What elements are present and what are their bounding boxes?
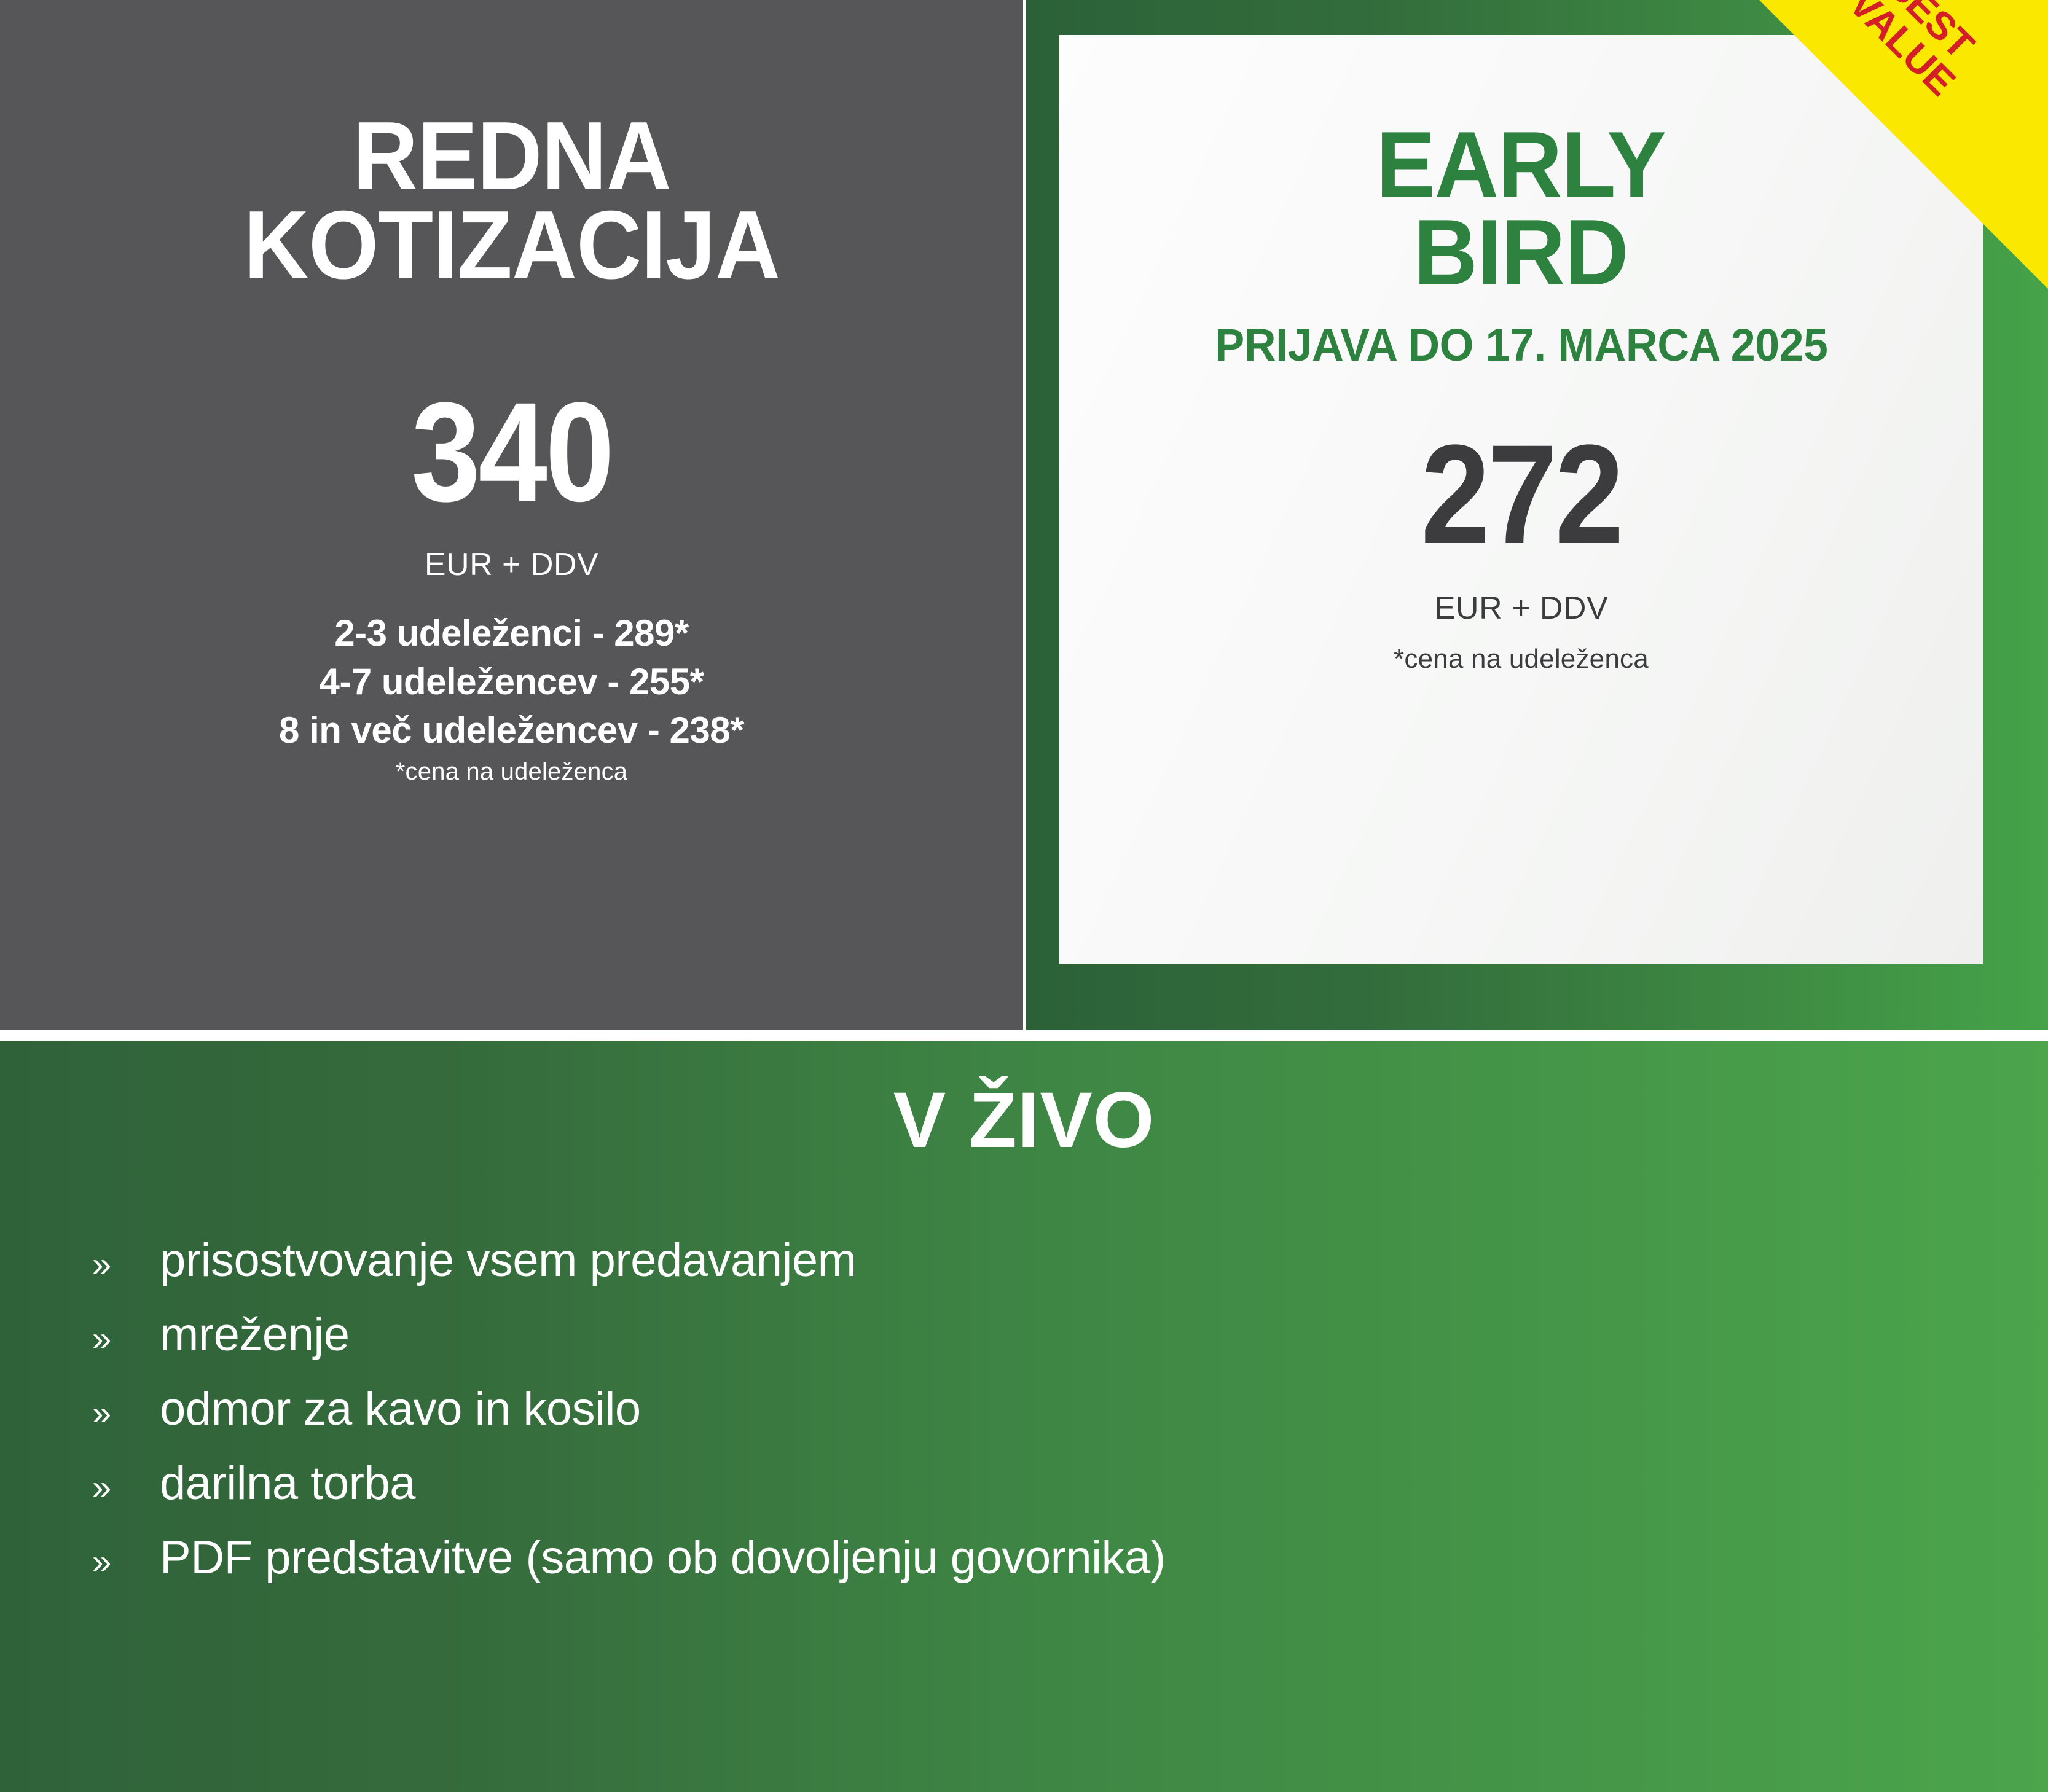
list-item-label: PDF predstavitve (samo ob dovoljenju gov… bbox=[160, 1535, 1166, 1581]
pricing-tiers-row: REDNA KOTIZACIJA 340 EUR + DDV 2-3 udele… bbox=[0, 0, 2048, 1030]
group-tier-1: 2-3 udeleženci - 289* bbox=[279, 609, 744, 657]
group-tier-2: 4-7 udeležencev - 255* bbox=[279, 657, 744, 706]
regular-fee-price: 340 bbox=[411, 381, 612, 523]
early-bird-card: EARLY BIRD PRIJAVA DO 17. MARCA 2025 272… bbox=[1059, 35, 1983, 964]
live-section-title: V ŽIVO bbox=[0, 1041, 2048, 1160]
list-item-label: odmor za kavo in kosilo bbox=[160, 1386, 641, 1433]
early-bird-panel: EARLY BIRD PRIJAVA DO 17. MARCA 2025 272… bbox=[1026, 0, 2048, 1030]
guillemet-bullet-icon: » bbox=[92, 1247, 160, 1281]
guillemet-bullet-icon: » bbox=[92, 1396, 160, 1430]
early-bird-title-line2: BIRD bbox=[1376, 209, 1666, 297]
early-bird-footnote: *cena na udeleženca bbox=[1394, 644, 1649, 675]
guillemet-bullet-icon: » bbox=[92, 1470, 160, 1504]
list-item: » PDF predstavitve (samo ob dovoljenju g… bbox=[92, 1535, 2048, 1609]
list-item-label: darilna torba bbox=[160, 1460, 415, 1507]
early-bird-deadline: PRIJAVA DO 17. MARCA 2025 bbox=[1215, 319, 1827, 371]
early-bird-currency: EUR + DDV bbox=[1434, 590, 1608, 627]
regular-fee-title: REDNA KOTIZACIJA bbox=[140, 112, 883, 291]
regular-fee-panel: REDNA KOTIZACIJA 340 EUR + DDV 2-3 udele… bbox=[0, 0, 1023, 1030]
list-item-label: mreženje bbox=[160, 1312, 350, 1358]
group-tier-3: 8 in več udeležencev - 238* bbox=[279, 706, 744, 754]
list-item: » odmor za kavo in kosilo bbox=[92, 1386, 2048, 1460]
list-item: » mreženje bbox=[92, 1312, 2048, 1386]
live-benefits-section: V ŽIVO » prisostvovanje vsem predavanjem… bbox=[0, 1041, 2048, 1792]
regular-fee-title-line2: KOTIZACIJA bbox=[140, 201, 883, 290]
guillemet-bullet-icon: » bbox=[92, 1544, 160, 1579]
list-item-label: prisostvovanje vsem predavanjem bbox=[160, 1237, 856, 1284]
regular-fee-group-tiers: 2-3 udeleženci - 289* 4-7 udeležencev - … bbox=[279, 609, 744, 755]
list-item: » darilna torba bbox=[92, 1460, 2048, 1535]
early-bird-title: EARLY BIRD bbox=[1376, 121, 1666, 297]
early-bird-price: 272 bbox=[1421, 424, 1622, 565]
pricing-graphic: REDNA KOTIZACIJA 340 EUR + DDV 2-3 udele… bbox=[0, 0, 2048, 1792]
list-item: » prisostvovanje vsem predavanjem bbox=[92, 1237, 2048, 1312]
regular-fee-currency: EUR + DDV bbox=[425, 546, 598, 583]
guillemet-bullet-icon: » bbox=[92, 1321, 160, 1356]
regular-fee-footnote: *cena na udeleženca bbox=[396, 758, 627, 786]
live-benefits-list: » prisostvovanje vsem predavanjem » mrež… bbox=[0, 1237, 2048, 1609]
